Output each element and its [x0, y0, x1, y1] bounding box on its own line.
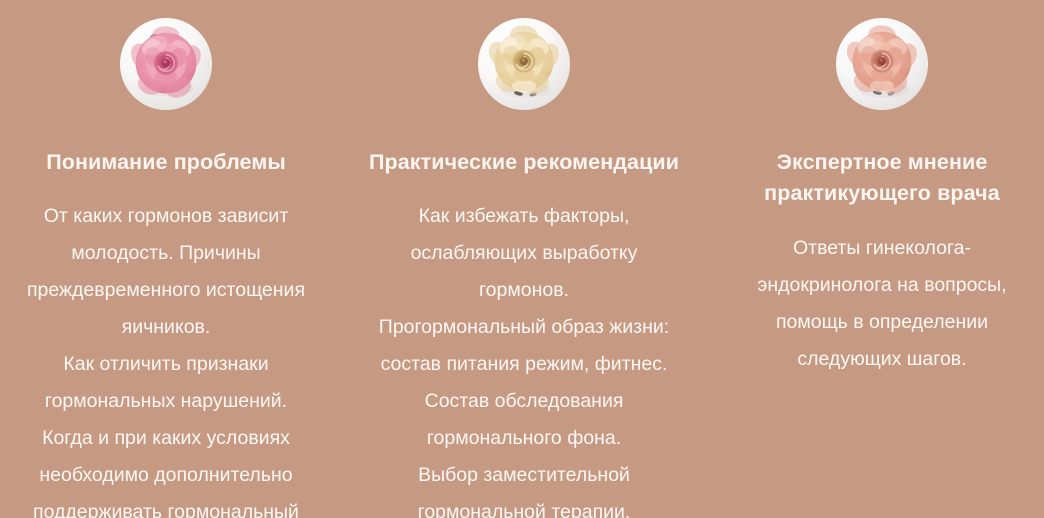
benefit-body-1: От каких гормонов зависит молодость. При… — [16, 198, 316, 518]
benefits-section: Понимание проблемы От каких гормонов зав… — [0, 0, 1044, 518]
benefit-column-1: Понимание проблемы От каких гормонов зав… — [6, 0, 326, 518]
cream-rose-photo — [478, 18, 570, 110]
benefit-heading-2: Практические рекомендации — [364, 147, 684, 178]
cream-rose-icon — [478, 18, 570, 110]
benefit-column-3: Экспертное мнение практикующего врача От… — [722, 0, 1042, 378]
salmon-rose-photo — [836, 18, 928, 110]
benefit-column-2: Практические рекомендации Как избежать ф… — [364, 0, 684, 518]
benefit-heading-3: Экспертное мнение практикующего врача — [722, 147, 1042, 209]
pink-rose-photo — [120, 18, 212, 110]
pink-rose-icon — [120, 18, 212, 110]
salmon-rose-icon — [836, 18, 928, 110]
benefit-heading-1: Понимание проблемы — [6, 147, 326, 178]
benefit-body-2: Как избежать факторы, ослабляющих вырабо… — [366, 198, 682, 518]
benefit-body-3: Ответы гинеколога- эндокринолога на вопр… — [734, 230, 1030, 378]
